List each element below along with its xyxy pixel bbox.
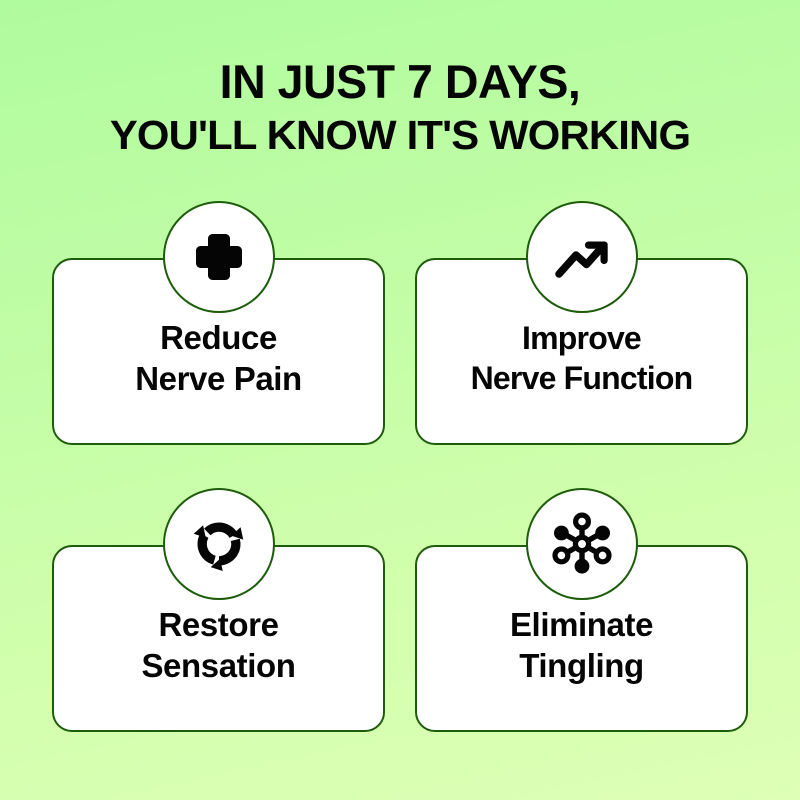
headline-line-2: YOU'LL KNOW IT'S WORKING [0,115,800,156]
card-label: Eliminate Tingling [508,605,655,686]
network-hub-icon [549,511,615,577]
icon-badge [526,488,638,600]
card-label: Improve Nerve Function [469,319,695,397]
card-label: Reduce Nerve Pain [133,318,304,399]
plus-icon [190,228,248,286]
benefit-card-improve-nerve-function: Improve Nerve Function [415,258,748,445]
benefit-card-reduce-nerve-pain: Reduce Nerve Pain [52,258,385,445]
benefit-card-restore-sensation: Restore Sensation [52,545,385,732]
icon-badge [526,201,638,313]
icon-badge [163,488,275,600]
benefit-card-eliminate-tingling: Eliminate Tingling [415,545,748,732]
benefit-card-grid: Reduce Nerve Pain Improve Nerve Function [52,258,748,732]
card-label: Restore Sensation [139,605,297,686]
headline-line-1: IN JUST 7 DAYS, [4,58,796,105]
promo-poster: IN JUST 7 DAYS, YOU'LL KNOW IT'S WORKING… [0,0,800,800]
trending-up-icon [551,226,613,288]
icon-badge [163,201,275,313]
recycle-cycle-icon [187,512,251,576]
page-title: IN JUST 7 DAYS, YOU'LL KNOW IT'S WORKING [0,58,800,156]
